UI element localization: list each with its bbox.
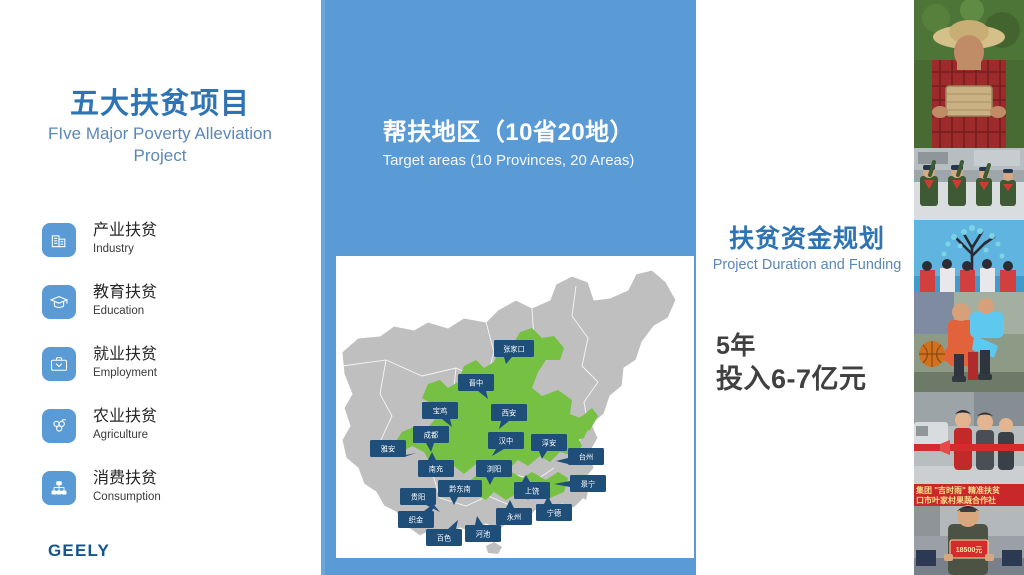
map-label-text: 雅安	[381, 445, 395, 454]
china-map-svg: 张家口 晋中 宝鸡 西安	[336, 256, 694, 558]
right-title-en: Project Duration and Funding	[696, 256, 918, 275]
left-column: 五大扶贫项目 FIve Major Poverty Alleviation Pr…	[0, 0, 320, 575]
map-label-text: 景宁	[581, 480, 595, 489]
center-title-cn: 帮扶地区（10省20地）	[321, 118, 696, 148]
map-label-text: 淳安	[542, 439, 556, 448]
list-item-industry[interactable]: 产业扶贫 Industry	[42, 212, 292, 267]
map-label-text: 百色	[437, 534, 451, 543]
list-item-label-cn: 农业扶贫	[93, 408, 157, 427]
list-item-consumption[interactable]: 消费扶贫 Consumption	[42, 460, 292, 515]
map-label-text: 上饶	[525, 487, 539, 496]
map-label-text: 宁德	[547, 509, 561, 518]
map-label-text: 浏阳	[487, 465, 501, 474]
list-item-text: 就业扶贫 Employment	[93, 346, 157, 380]
hainan-island	[486, 542, 502, 554]
map-label-text: 宝鸡	[433, 407, 447, 416]
left-title-en: FIve Major Poverty Alleviation Project	[0, 123, 320, 166]
list-item-education[interactable]: 教育扶贫 Education	[42, 274, 292, 329]
map-label-text: 台州	[579, 453, 593, 462]
basketball-kids-photo	[914, 292, 1024, 392]
farmer-with-basket-photo	[914, 0, 1024, 148]
right-title-cn: 扶贫资金规划	[696, 224, 918, 254]
list-item-text: 农业扶贫 Agriculture	[93, 408, 157, 442]
ribbon-cutting-photo	[914, 392, 1024, 484]
list-item-label-cn: 消费扶贫	[93, 470, 161, 489]
geely-logo: GEELY	[48, 541, 110, 561]
org-chart-icon	[42, 471, 76, 505]
map-label-text: 成都	[424, 431, 438, 440]
grapes-icon	[42, 409, 76, 443]
left-title-en-line1: FIve Major Poverty Alleviation	[48, 124, 272, 143]
children-mural-tree-photo	[914, 220, 1024, 292]
list-item-label-en: Industry	[93, 242, 157, 256]
map-label-text: 南充	[429, 465, 443, 474]
map-label-text: 汉中	[499, 437, 513, 446]
map-label-text: 晋中	[469, 379, 483, 388]
right-title-block: 扶贫资金规划 Project Duration and Funding	[696, 224, 918, 275]
poverty-program-list: 产业扶贫 Industry 教育扶贫 Education	[42, 212, 292, 522]
graduation-cap-icon	[42, 285, 76, 319]
photo-strip: 集团 "吉时雨" 精准扶贫 口市叶家村果蔬合作社 18500元	[914, 0, 1024, 575]
kpi-funding: 投入6-7亿元	[716, 363, 916, 395]
left-title-block: 五大扶贫项目 FIve Major Poverty Alleviation Pr…	[0, 88, 320, 166]
map-label-text: 永州	[507, 513, 521, 522]
svg-text:口市叶家村果蔬合作社: 口市叶家村果蔬合作社	[916, 495, 996, 505]
left-title-en-line2: Project	[134, 146, 187, 165]
kpi-duration: 5年	[716, 332, 916, 361]
map-label-text: 织金	[409, 516, 423, 525]
map-label-text: 黔东南	[449, 485, 471, 494]
map-label-text: 贵阳	[411, 493, 425, 502]
list-item-label-cn: 就业扶贫	[93, 346, 157, 365]
center-title-en: Target areas (10 Provinces, 20 Areas)	[321, 151, 696, 171]
list-item-label-cn: 产业扶贫	[93, 222, 157, 241]
briefcase-icon	[42, 347, 76, 381]
center-panel: 帮扶地区（10省20地） Target areas (10 Provinces,…	[321, 0, 696, 575]
list-item-employment[interactable]: 就业扶贫 Employment	[42, 336, 292, 391]
svg-text:18500元: 18500元	[956, 546, 982, 554]
map-label-text: 河池	[476, 530, 490, 539]
man-holding-sign-photo: 集团 "吉时雨" 精准扶贫 口市叶家村果蔬合作社 18500元	[914, 484, 1024, 575]
china-map-container: 张家口 晋中 宝鸡 西安	[336, 256, 694, 558]
list-item-label-en: Consumption	[93, 490, 161, 504]
list-item-text: 教育扶贫 Education	[93, 284, 157, 318]
building-icon	[42, 223, 76, 257]
list-item-text: 消费扶贫 Consumption	[93, 470, 161, 504]
svg-text:集团 "吉时雨" 精准扶贫: 集团 "吉时雨" 精准扶贫	[915, 485, 1001, 495]
list-item-label-en: Agriculture	[93, 428, 157, 442]
right-column: 扶贫资金规划 Project Duration and Funding 5年 投…	[696, 0, 912, 575]
map-label-text: 张家口	[503, 345, 525, 354]
list-item-text: 产业扶贫 Industry	[93, 222, 157, 256]
list-item-label-en: Employment	[93, 366, 157, 380]
center-title-block: 帮扶地区（10省20地） Target areas (10 Provinces,…	[321, 118, 696, 171]
students-saluting-photo	[914, 148, 1024, 220]
funding-kpi-block: 5年 投入6-7亿元	[716, 332, 916, 395]
list-item-label-cn: 教育扶贫	[93, 284, 157, 303]
left-title-cn: 五大扶贫项目	[0, 88, 320, 121]
slide-root: 五大扶贫项目 FIve Major Poverty Alleviation Pr…	[0, 0, 1024, 575]
list-item-agriculture[interactable]: 农业扶贫 Agriculture	[42, 398, 292, 453]
list-item-label-en: Education	[93, 304, 157, 318]
map-label-text: 西安	[502, 409, 516, 418]
